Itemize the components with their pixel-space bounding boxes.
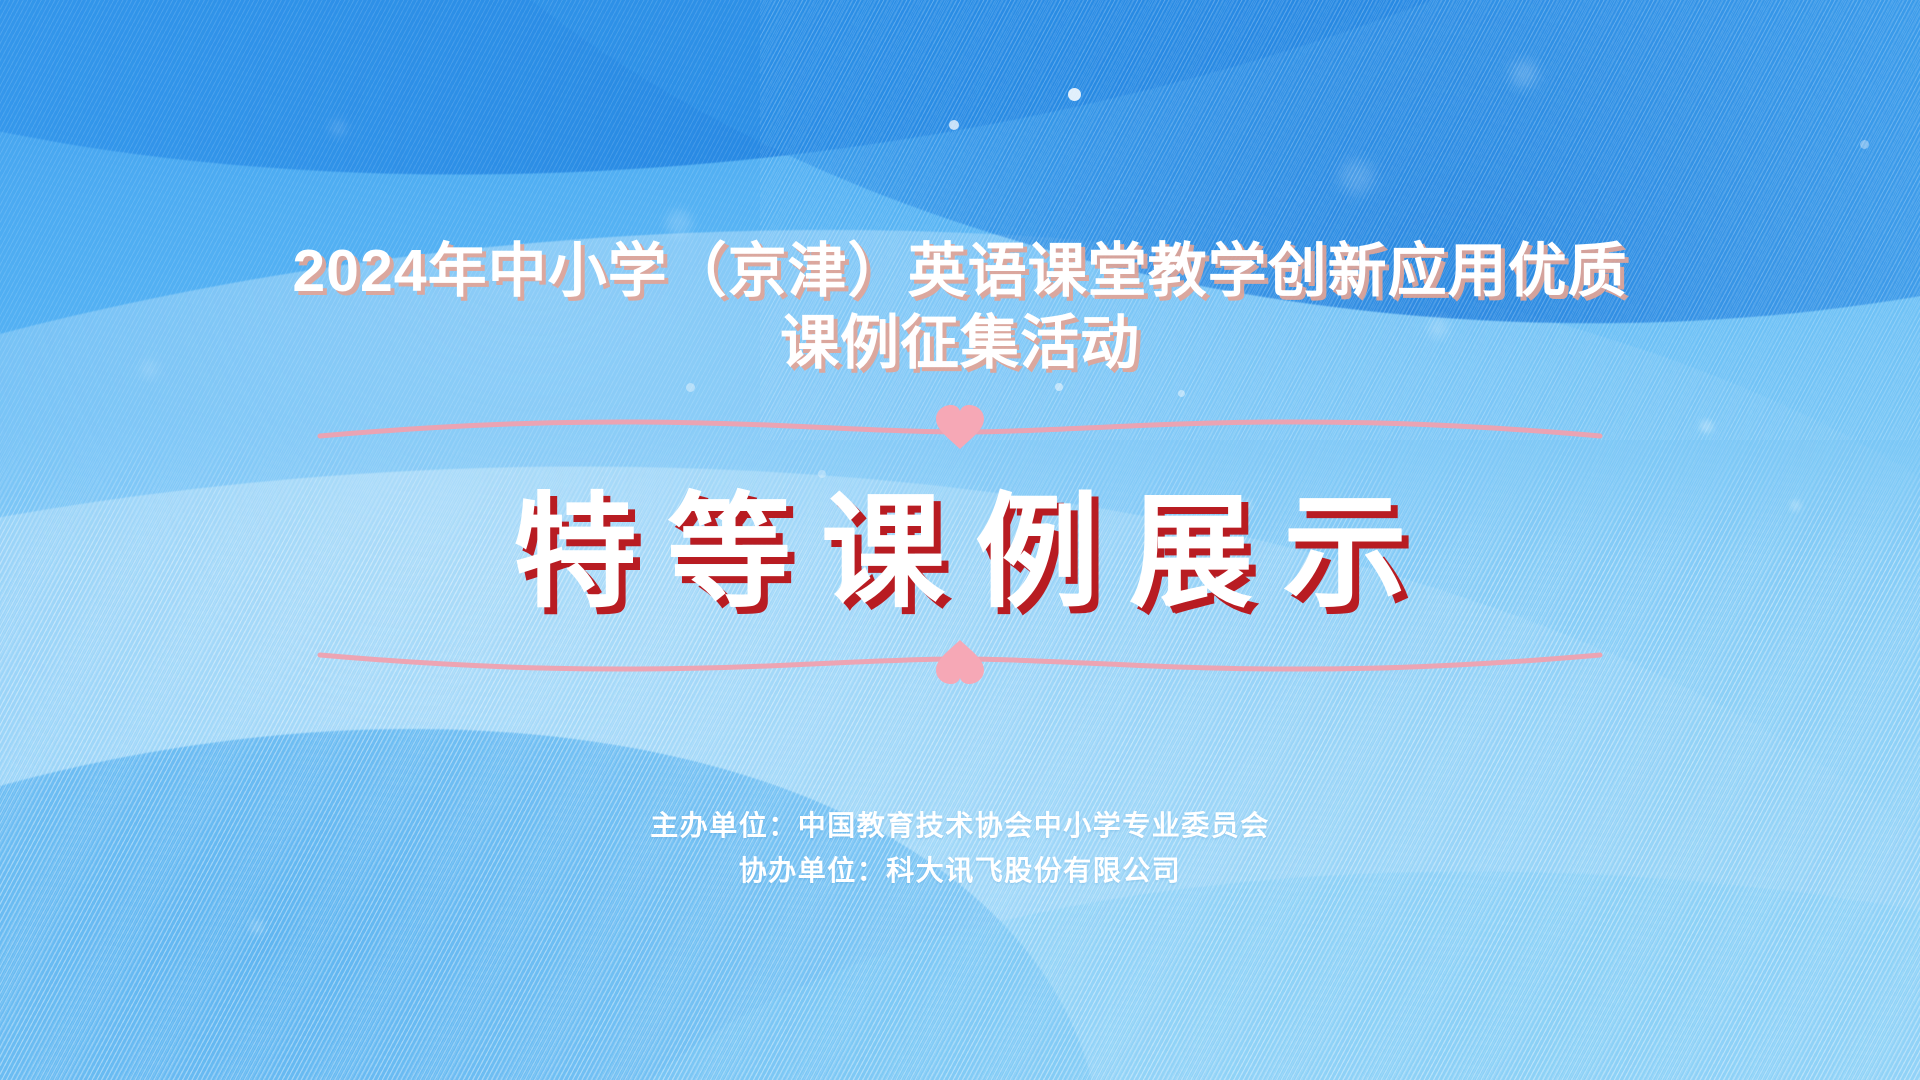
event-title-line-1: 2024年中小学（京津）英语课堂教学创新应用优质 xyxy=(292,236,1627,308)
divider-top xyxy=(320,402,1600,460)
co-organizer-line: 协办单位：科大讯飞股份有限公司 xyxy=(650,848,1270,893)
heart-icon xyxy=(936,640,984,684)
organizer-line: 主办单位：中国教育技术协会中小学专业委员会 xyxy=(650,803,1270,848)
main-headline: 特等课例展示 xyxy=(483,484,1437,623)
poster-content: 2024年中小学（京津）英语课堂教学创新应用优质 课例征集活动 特等课例展示 主… xyxy=(0,0,1920,1080)
poster-canvas: 2024年中小学（京津）英语课堂教学创新应用优质 课例征集活动 特等课例展示 主… xyxy=(0,0,1920,1080)
event-title-line-2: 课例征集活动 xyxy=(292,308,1627,380)
event-title: 2024年中小学（京津）英语课堂教学创新应用优质 课例征集活动 xyxy=(292,236,1627,380)
divider-bottom xyxy=(320,629,1600,687)
heart-icon xyxy=(936,405,984,449)
organizer-info: 主办单位：中国教育技术协会中小学专业委员会 协办单位：科大讯飞股份有限公司 xyxy=(650,803,1270,894)
